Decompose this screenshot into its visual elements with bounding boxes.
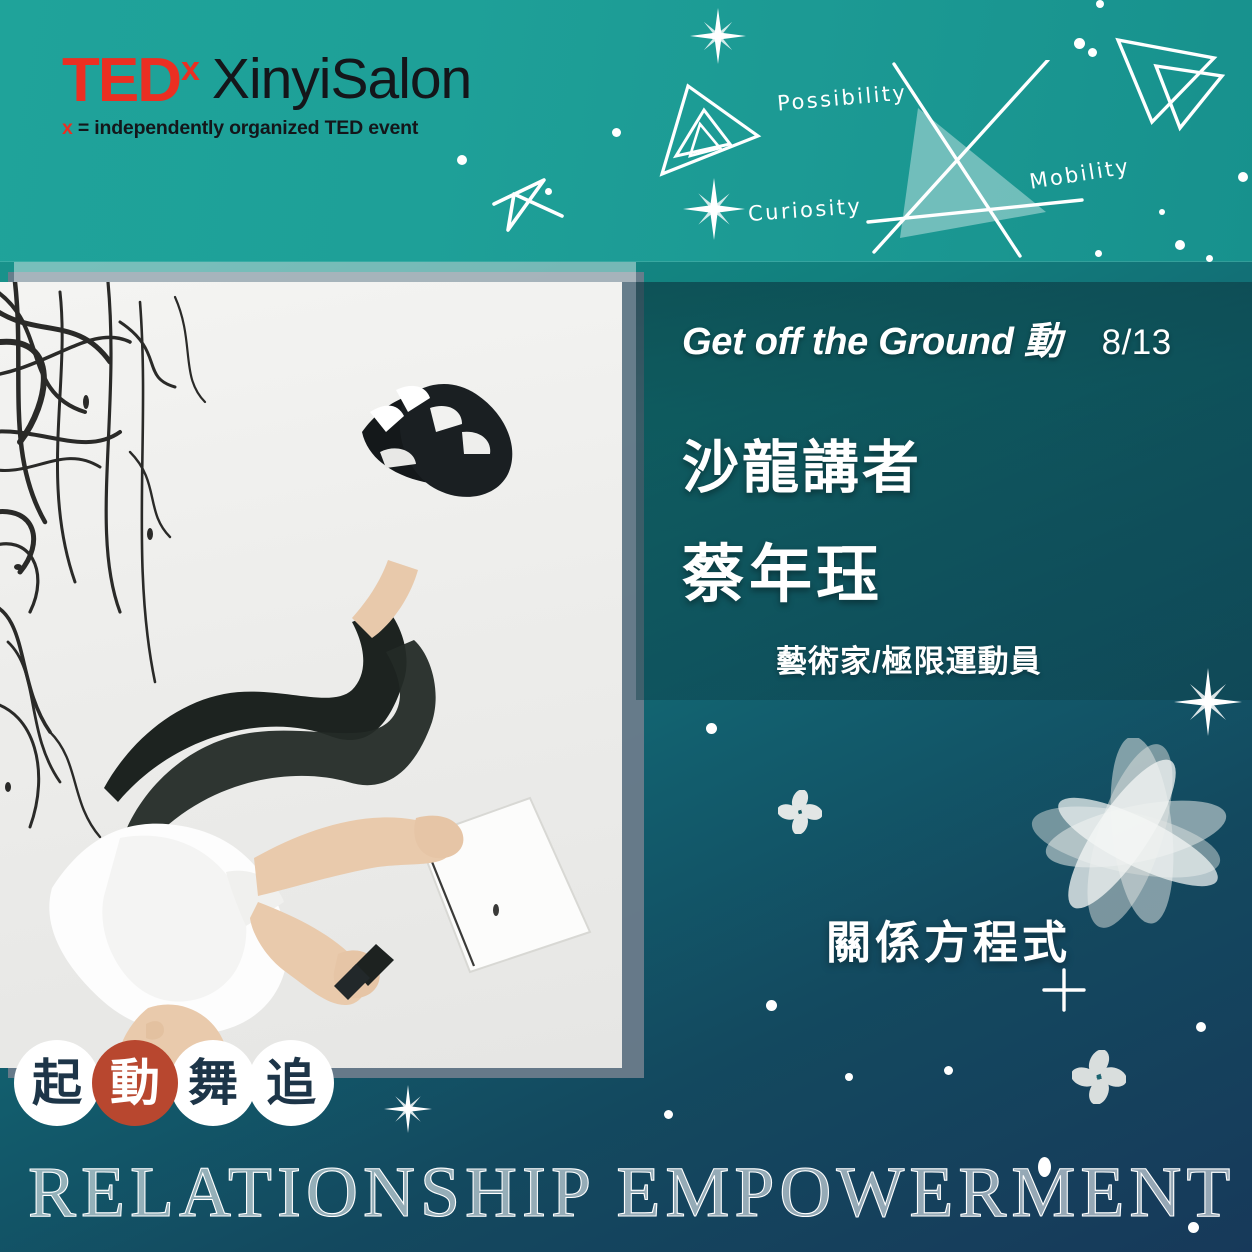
badge-char: 起 (32, 1058, 82, 1108)
banner-title: RELATIONSHIP EMPOWERMENT (28, 1151, 1235, 1234)
keyword-curiosity: Curiosity (747, 194, 863, 226)
badge-circle-2: 動 (92, 1040, 178, 1126)
poster-root: TED x XinyiSalon x = independently organ… (0, 0, 1252, 1252)
speaker-label: 沙龍講者 (682, 422, 922, 504)
dot-decoration (1159, 209, 1165, 215)
speaker-photo (0, 282, 622, 1068)
small-flower-icon (1072, 1050, 1126, 1104)
sparkle-icon (683, 178, 745, 240)
jumping-person-figure (0, 282, 622, 1068)
small-flower-icon (778, 790, 822, 834)
salon-name: XinyiSalon (212, 51, 471, 108)
event-info-panel: Get off the Ground 動 8/13 沙龍講者 蔡年珏 藝術家/極… (636, 282, 1252, 700)
dot-decoration (1175, 240, 1185, 250)
tedx-logo[interactable]: TED x XinyiSalon x = independently organ… (62, 50, 471, 140)
dot-decoration (944, 1066, 953, 1075)
double-triangle-icon (1110, 30, 1230, 140)
triangle-grid-icon (640, 78, 770, 178)
badge-circle-1: 起 (14, 1040, 100, 1126)
sparkle-icon (1174, 668, 1242, 736)
dot-decoration (706, 723, 717, 734)
talk-header-row: Get off the Ground 動 8/13 (682, 310, 1242, 365)
ted-wordmark: TED (62, 50, 180, 112)
tedx-logo-row: TED x XinyiSalon (62, 50, 471, 112)
dot-decoration (1088, 48, 1097, 57)
photo-top-band (14, 262, 636, 282)
badge-char: 動 (110, 1058, 160, 1108)
dot-decoration (1074, 38, 1085, 49)
tedx-superscript-x: x (181, 52, 200, 86)
tagline-text: = independently organized TED event (78, 117, 418, 139)
badge-circle-4: 追 (248, 1040, 334, 1126)
speaker-photo-panel (0, 262, 636, 1068)
dot-decoration (766, 1000, 777, 1011)
talk-title: Get off the Ground 動 (682, 310, 1062, 365)
dot-decoration (1206, 255, 1213, 262)
header-band: TED x XinyiSalon x = independently organ… (0, 0, 1252, 262)
dot-decoration (1095, 250, 1102, 257)
dot-decoration (1196, 1022, 1206, 1032)
tagline-x-symbol: x (62, 117, 73, 139)
cross-sparkle-icon (1042, 968, 1086, 1012)
zigzag-arrow-icon (488, 168, 568, 238)
bottom-banner: RELATIONSHIP EMPOWERMENT (0, 1132, 1252, 1252)
dot-decoration (845, 1073, 853, 1081)
dot-decoration (1096, 0, 1104, 8)
speaker-role: 藝術家/極限運動員 (776, 636, 1042, 681)
sparkle-icon (384, 1085, 432, 1133)
badge-char: 追 (266, 1058, 316, 1108)
sparkle-icon (690, 8, 746, 64)
event-date: 8/13 (1102, 323, 1172, 363)
speaker-name: 蔡年珏 (682, 524, 883, 615)
dot-decoration (612, 128, 621, 137)
petal-flower-decoration (1018, 738, 1248, 938)
dot-decoration (457, 155, 467, 165)
dot-decoration (664, 1110, 673, 1119)
badge-circle-3: 舞 (170, 1040, 256, 1126)
dot-decoration (545, 188, 552, 195)
tedx-tagline: x = independently organized TED event (62, 117, 471, 140)
slogan-badge: 起 動 舞 追 (14, 1040, 326, 1126)
dot-decoration (1238, 172, 1248, 182)
badge-char: 舞 (188, 1058, 238, 1108)
